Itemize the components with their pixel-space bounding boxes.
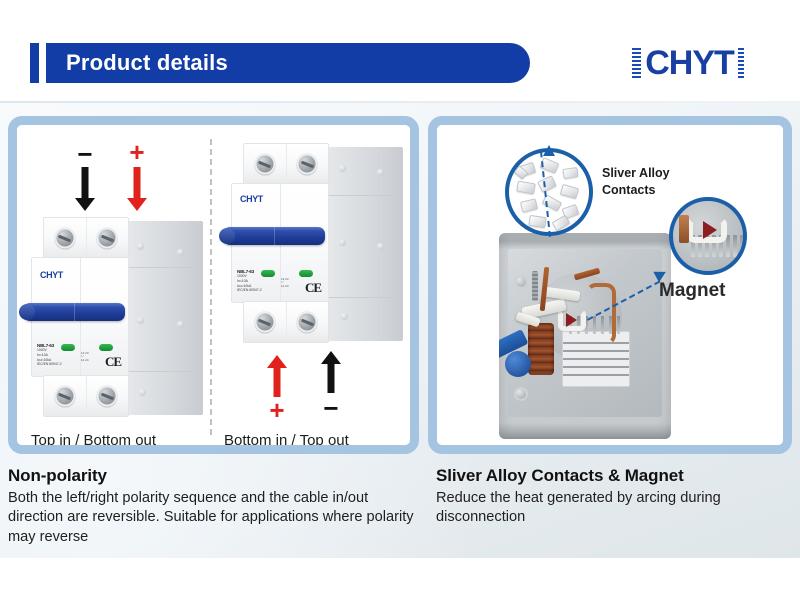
arrow-shaft xyxy=(134,167,141,198)
breaker-cutaway-illustration xyxy=(499,233,671,439)
alloy-chip xyxy=(562,167,578,179)
header-divider xyxy=(0,101,800,103)
flow-arrow-up-black-b xyxy=(321,351,341,393)
lever-cap xyxy=(19,304,35,320)
terminal-cell xyxy=(244,144,287,184)
terminal-screw-icon xyxy=(297,154,318,175)
brand-logo: CHYT xyxy=(598,38,778,88)
body-rivet xyxy=(377,169,384,176)
body-rivet xyxy=(139,389,146,396)
alloy-chip xyxy=(537,175,557,193)
status-indicator-b-2 xyxy=(299,270,313,277)
wiring-schematic-a: 13 23/ /14 24 xyxy=(81,352,89,362)
caption-top-in: Top in / Bottom out xyxy=(31,432,156,449)
terminal-screw-icon xyxy=(254,154,275,175)
non-polarity-panel-inner: − + xyxy=(17,125,410,445)
body-rivet xyxy=(377,243,384,250)
non-polarity-panel: − + xyxy=(8,116,419,454)
polarity-sign-plus-b: + xyxy=(265,397,289,423)
terminal-screw-icon xyxy=(254,312,275,333)
copper-conductor xyxy=(586,283,616,345)
flow-arrow-up-red-b xyxy=(267,355,287,397)
contacts-magnet-panel: Sliver Alloy Contacts Magnet xyxy=(428,116,792,454)
solenoid-coil xyxy=(528,323,554,375)
logo-right-bars-icon xyxy=(738,48,744,78)
body-seam xyxy=(319,195,403,196)
status-indicator-b-1 xyxy=(261,270,275,277)
page-title: Product details xyxy=(66,50,506,76)
body-rivet xyxy=(341,313,348,320)
body-rivet xyxy=(137,243,144,250)
toggle-lever-a xyxy=(23,303,125,321)
terminal-cell xyxy=(87,218,129,258)
flow-arrow-down-black-a xyxy=(75,167,95,211)
body-seam xyxy=(119,371,203,372)
panel-divider xyxy=(210,139,212,435)
magnet-core-zoom xyxy=(703,221,717,239)
arrow-shaft xyxy=(274,367,281,397)
body-rivet xyxy=(177,321,184,328)
device-brand-b: CHYT xyxy=(240,194,263,204)
housing-screw-icon xyxy=(514,387,528,401)
logo-left-bars-icon xyxy=(632,48,641,78)
alloy-chip xyxy=(516,181,536,195)
arc-fin xyxy=(617,316,620,334)
callout-label-line1: Sliver Alloy xyxy=(602,166,670,180)
terminal-screw-icon xyxy=(54,228,75,249)
terminal-block-bottom-a xyxy=(43,375,129,417)
arrow-head xyxy=(75,198,95,211)
callout-label-magnet: Magnet xyxy=(659,280,726,302)
logo-wordmark: CHYT xyxy=(645,46,734,80)
blurb-body-contacts-magnet: Reduce the heat generated by arcing duri… xyxy=(436,489,796,528)
body-rivet xyxy=(339,165,346,172)
wiring-schematic-b: 13 23/ /14 24 xyxy=(281,278,289,288)
breaker-side-body-b xyxy=(319,147,403,341)
din-rail-knob xyxy=(505,351,531,377)
terminal-screw-icon xyxy=(97,386,118,407)
status-indicator-a-1 xyxy=(61,344,75,351)
contacts-magnet-panel-inner: Sliver Alloy Contacts Magnet xyxy=(437,125,783,445)
body-rivet xyxy=(137,317,144,324)
arc-plate xyxy=(563,374,629,376)
terminal-screw-icon xyxy=(97,228,118,249)
arrow-shaft xyxy=(82,167,89,198)
terminal-block-top-b xyxy=(243,143,329,185)
magnet-core xyxy=(566,313,577,327)
terminal-cell xyxy=(287,302,329,342)
terminal-cell xyxy=(287,144,329,184)
alloy-chip xyxy=(560,184,579,199)
terminal-screw-icon xyxy=(54,386,75,407)
breaker-side-body-a xyxy=(119,221,203,415)
page-header: Product details CHYT xyxy=(0,0,800,103)
product-details-page: Product details CHYT − + xyxy=(0,0,800,591)
arc-plate xyxy=(563,358,629,360)
blurb-heading-non-polarity: Non-polarity xyxy=(8,466,420,486)
cutaway-housing xyxy=(508,249,662,417)
terminal-cell xyxy=(44,218,87,258)
body-rivet xyxy=(339,239,346,246)
polarity-sign-minus-a: − xyxy=(73,141,97,167)
polarity-sign-plus-a: + xyxy=(125,139,149,165)
breaker-bottom-in: CHYT NBL7-63 1000V In=10A Icu=10kA IEC/E… xyxy=(221,135,407,435)
ce-mark-b: CE xyxy=(305,281,321,294)
alloy-chip xyxy=(528,215,546,228)
terminal-screw-icon xyxy=(297,312,318,333)
blurb-non-polarity: Non-polarity Both the left/right polarit… xyxy=(8,466,420,547)
body-seam xyxy=(119,267,203,268)
callout-label-silver-alloy: Sliver Alloy Contacts xyxy=(602,165,670,199)
housing-screw-icon xyxy=(514,275,528,289)
breaker-top-in: − + xyxy=(21,145,207,425)
terminal-cell xyxy=(87,376,129,416)
blurb-body-non-polarity: Both the left/right polarity sequence an… xyxy=(8,489,420,547)
callout-magnet xyxy=(669,197,747,275)
device-brand-a: CHYT xyxy=(40,270,63,280)
title-accent-tick xyxy=(30,43,39,83)
blurb-contacts-magnet: Sliver Alloy Contacts & Magnet Reduce th… xyxy=(436,466,796,528)
body-seam xyxy=(319,297,403,298)
terminal-cell xyxy=(244,302,287,342)
arrow-shaft xyxy=(328,363,335,393)
terminal-block-top-a xyxy=(43,217,129,259)
toggle-lever-b xyxy=(223,227,325,245)
lever-cap xyxy=(219,228,235,244)
magnet-copper-zoom xyxy=(679,215,689,243)
status-indicator-a-2 xyxy=(99,344,113,351)
terminal-cell xyxy=(44,376,87,416)
return-spring xyxy=(532,271,538,301)
polarity-sign-minus-b: − xyxy=(319,395,343,421)
caption-bottom-in: Bottom in / Top out xyxy=(224,432,349,449)
flow-arrow-down-red-a xyxy=(127,167,147,211)
alloy-chip xyxy=(520,198,538,213)
callout-label-line2: Contacts xyxy=(602,183,655,197)
terminal-block-bottom-b xyxy=(243,301,329,343)
ce-mark-a: CE xyxy=(105,355,121,368)
arrow-head xyxy=(127,198,147,211)
body-rivet xyxy=(177,249,184,256)
blurb-heading-contacts-magnet: Sliver Alloy Contacts & Magnet xyxy=(436,466,796,486)
arc-plate xyxy=(563,366,629,368)
leader-arrowhead xyxy=(543,145,555,156)
arc-plate xyxy=(563,350,629,352)
